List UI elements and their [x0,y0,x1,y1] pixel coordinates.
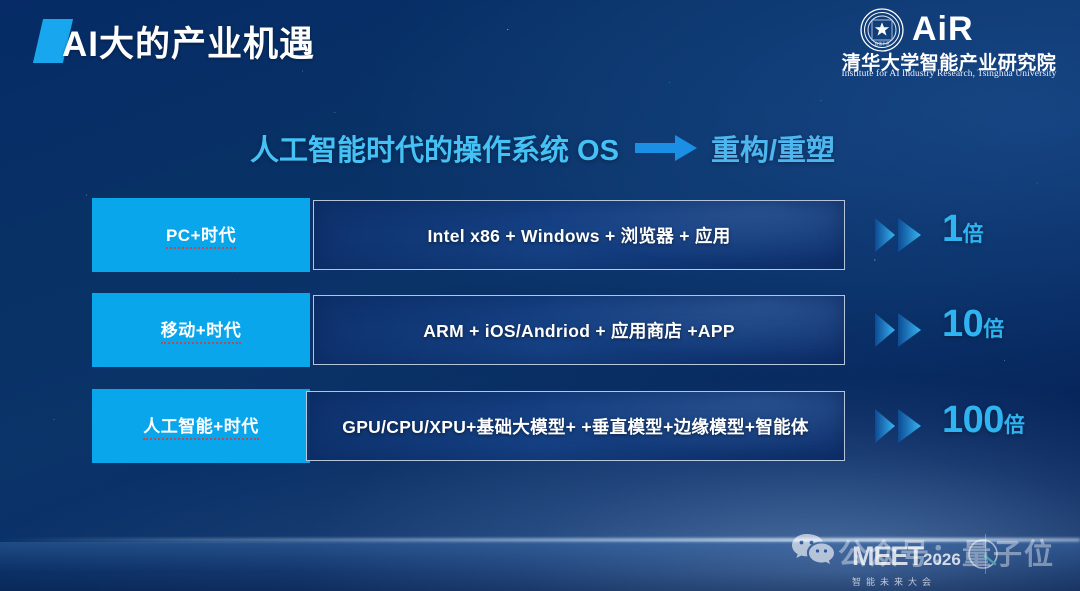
era-stack-box[interactable]: ARM + iOS/Andriod + 应用商店 +APP [313,295,845,365]
double-chevron-right-icon [874,216,924,254]
subtitle-right-text: 重构/重塑 [711,127,835,169]
multiplier-unit: 倍 [983,318,1004,341]
meet-logo-main: MEET2026 [852,543,961,573]
double-chevron-right-icon [874,311,924,349]
multiplier-unit: 倍 [1004,414,1025,437]
wechat-icon [790,532,836,566]
era-label-text: 人工智能+时代 [143,412,258,440]
multiplier-number: 10 [942,303,983,345]
meet-logo-word: MEET [852,541,923,571]
meet-logo-subtitle: 智能未来大会 [852,575,961,588]
subtitle-row: 人工智能时代的操作系统 OS 重构/重塑 [250,127,835,169]
qbit-logo-icon [966,537,1000,571]
page-title: AI大的产业机遇 [62,16,315,67]
air-logo: 自强不息 AiR 清华大学智能产业研究院 Institute for AI In… [836,6,1062,82]
double-chevron-right-icon [874,407,924,445]
era-stack-text: ARM + iOS/Andriod + 应用商店 +APP [423,318,735,343]
logo-name-en: Institute for AI Industry Research, Tsin… [836,69,1062,79]
era-stack-text: GPU/CPU/XPU+基础大模型+ +垂直模型+边缘模型+智能体 [342,414,808,439]
era-label-text: 移动+时代 [161,316,241,344]
meet-conference-logo: MEET2026 智能未来大会 [852,543,961,588]
era-label-box[interactable]: PC+时代 [92,198,310,272]
multiplier: 100倍 [942,399,1025,442]
svg-text:自强不息: 自强不息 [874,41,889,46]
multiplier-number: 1 [942,208,963,250]
era-label-box[interactable]: 移动+时代 [92,293,310,367]
meet-logo-year: 2026 [923,550,961,569]
multiplier-number: 100 [942,399,1004,441]
era-label-text: PC+时代 [166,221,236,249]
multiplier: 1倍 [942,208,984,251]
slide-canvas: AI大的产业机遇 自强不息 AiR 清华大学智能产业研究院 Institute … [0,0,1080,591]
era-stack-text: Intel x86 + Windows + 浏览器 + 应用 [427,223,730,248]
multiplier-unit: 倍 [963,223,984,246]
air-wordmark: AiR [912,8,974,50]
tsinghua-seal-icon: 自强不息 [860,8,904,52]
multiplier: 10倍 [942,303,1004,346]
subtitle-left-text: 人工智能时代的操作系统 OS [250,127,619,169]
right-arrow-icon [635,134,697,162]
slide-header: AI大的产业机遇 自强不息 AiR 清华大学智能产业研究院 Institute … [0,0,1080,88]
era-stack-box[interactable]: GPU/CPU/XPU+基础大模型+ +垂直模型+边缘模型+智能体 [306,391,845,461]
era-label-box[interactable]: 人工智能+时代 [92,389,310,463]
era-stack-box[interactable]: Intel x86 + Windows + 浏览器 + 应用 [313,200,845,270]
